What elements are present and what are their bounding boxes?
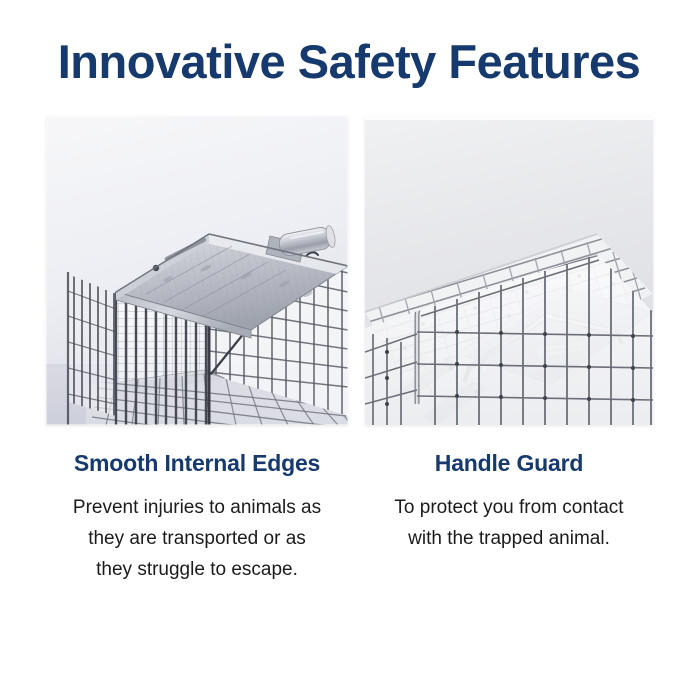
feature-description-line: they struggle to escape. <box>46 554 348 585</box>
handle-guard-illustration <box>365 116 653 425</box>
feature-title-smooth-internal-edges: Smooth Internal Edges <box>46 449 348 477</box>
feature-description-line: with the trapped animal. <box>365 523 653 554</box>
cage-interior-illustration <box>46 116 348 425</box>
feature-description-line: Prevent injuries to animals as <box>46 492 348 523</box>
page-title: Innovative Safety Features <box>0 34 698 90</box>
feature-photo-smooth-internal-edges <box>46 116 348 425</box>
feature-description-smooth-internal-edges: Prevent injuries to animals as they are … <box>46 492 348 585</box>
feature-title-handle-guard: Handle Guard <box>365 449 653 477</box>
feature-description-line: To protect you from contact <box>365 492 653 523</box>
feature-photo-handle-guard <box>365 116 653 425</box>
feature-description-line: they are transported or as <box>46 523 348 554</box>
feature-card-smooth-internal-edges: Smooth Internal Edges Prevent injuries t… <box>46 116 348 585</box>
feature-page: Innovative Safety Features <box>0 0 698 698</box>
feature-description-handle-guard: To protect you from contact with the tra… <box>365 492 653 554</box>
feature-card-handle-guard: Handle Guard To protect you from contact… <box>365 116 653 554</box>
